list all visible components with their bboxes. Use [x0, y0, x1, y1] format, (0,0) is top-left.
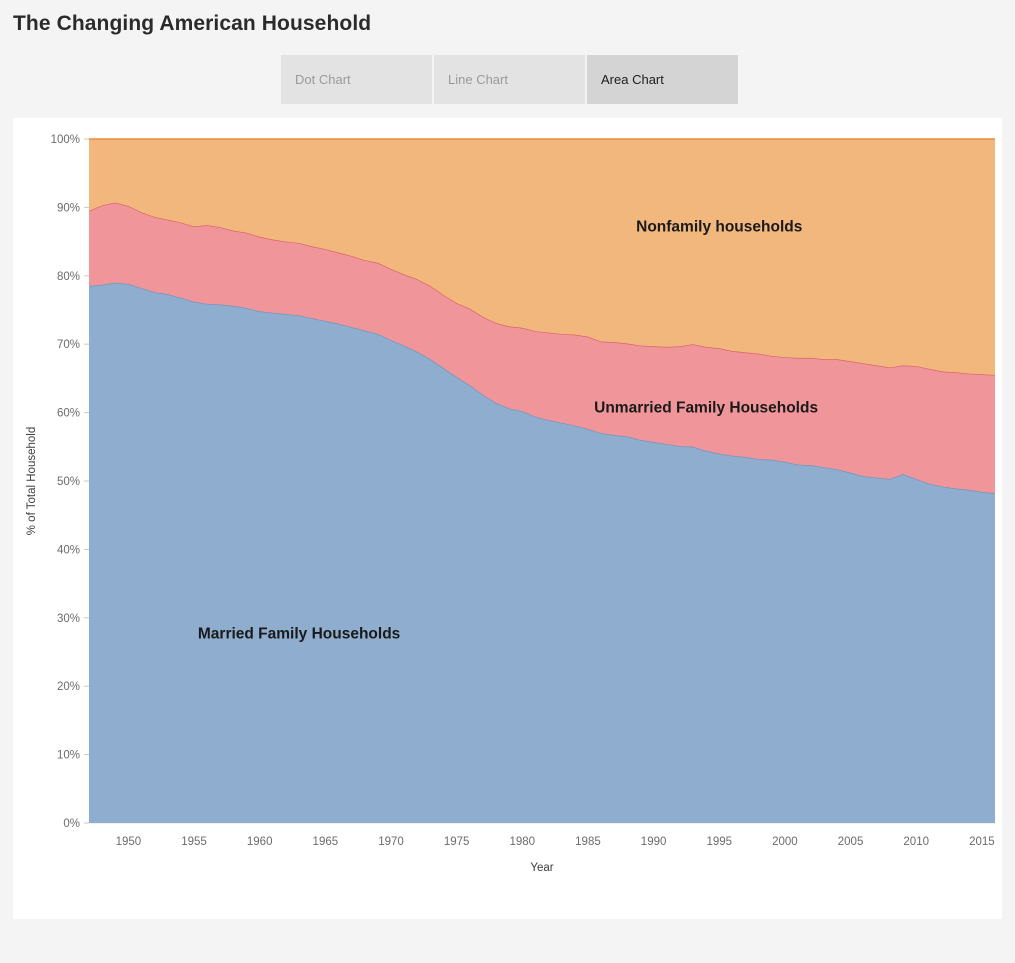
x-tick-label: 2000: [772, 836, 798, 848]
y-tick-label: 10%: [57, 750, 80, 762]
tab-line-chart[interactable]: Line Chart: [434, 55, 585, 104]
x-tick-label: 1975: [444, 836, 470, 848]
x-tick-label: 2010: [903, 836, 929, 848]
y-tick-label: 50%: [57, 476, 80, 488]
dashboard-page: The Changing American Household Dot Char…: [0, 0, 1015, 963]
y-tick-label: 20%: [57, 681, 80, 693]
series-annotation-1: Unmarried Family Households: [594, 400, 818, 417]
x-tick-label: 1965: [313, 836, 339, 848]
chart-card: 0%10%20%30%40%50%60%70%80%90%100%1950195…: [13, 118, 1002, 918]
y-tick-label: 40%: [57, 544, 80, 556]
x-tick-label: 1985: [575, 836, 601, 848]
tab-area-chart[interactable]: Area Chart: [587, 55, 738, 104]
page-title: The Changing American Household: [13, 12, 371, 36]
x-tick-label: 1990: [641, 836, 667, 848]
x-tick-label: 1960: [247, 836, 273, 848]
y-tick-label: 0%: [63, 818, 80, 830]
y-tick-label: 80%: [57, 271, 80, 283]
x-tick-label: 2005: [838, 836, 864, 848]
x-tick-label: 1970: [378, 836, 404, 848]
chart-type-tabs: Dot Chart Line Chart Area Chart: [281, 55, 738, 104]
x-tick-label: 1955: [181, 836, 207, 848]
tab-dot-chart[interactable]: Dot Chart: [281, 55, 432, 104]
y-tick-label: 30%: [57, 613, 80, 625]
y-tick-label: 100%: [51, 134, 80, 146]
y-tick-label: 90%: [57, 202, 80, 214]
stacked-area-chart: 0%10%20%30%40%50%60%70%80%90%100%1950195…: [13, 118, 1002, 918]
x-axis-title: Year: [530, 862, 553, 874]
x-tick-label: 2015: [969, 836, 995, 848]
footer-divider: [13, 918, 1002, 919]
y-tick-label: 70%: [57, 339, 80, 351]
y-axis-title: % of Total Household: [26, 427, 38, 535]
y-tick-label: 60%: [57, 408, 80, 420]
series-annotation-2: Married Family Households: [198, 625, 400, 642]
series-annotation-0: Nonfamily households: [636, 218, 802, 235]
x-tick-label: 1950: [116, 836, 142, 848]
x-tick-label: 1995: [706, 836, 732, 848]
x-tick-label: 1980: [510, 836, 536, 848]
